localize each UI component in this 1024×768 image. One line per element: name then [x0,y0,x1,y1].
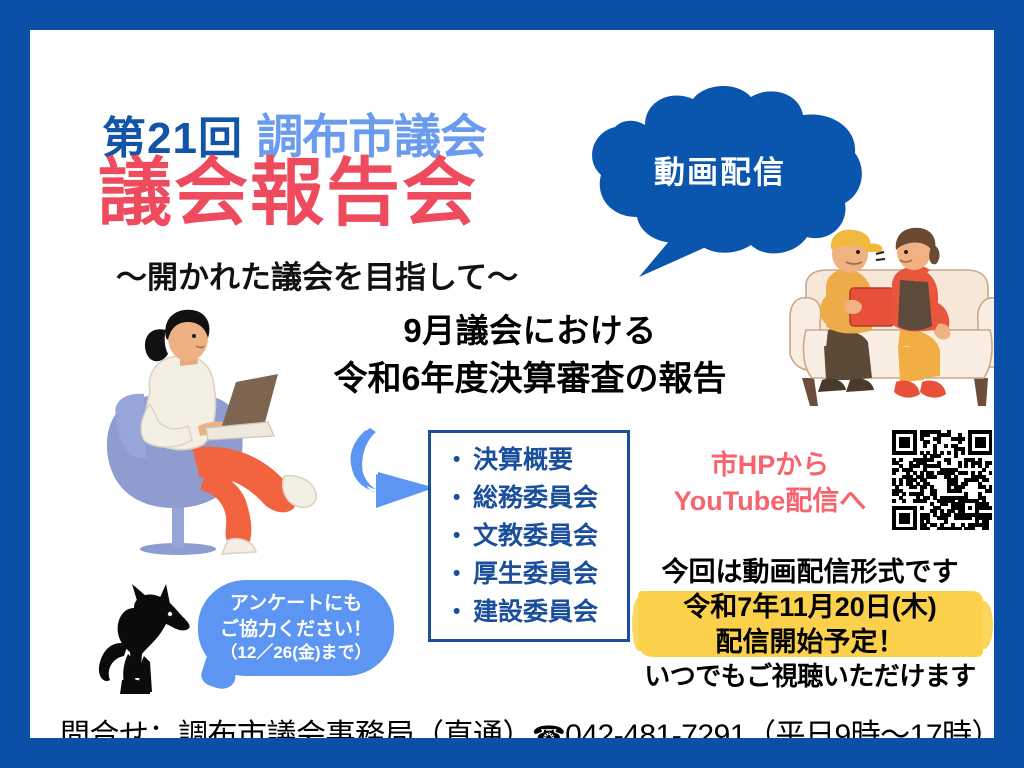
contact-prefix: 問合せ：調布市議会事務局（直通） [60,719,532,738]
elderly-couple-on-sofa-illustration [788,226,994,418]
contact-phone: 042-481-7291 [565,719,746,738]
report-heading: 9月議会における 令和6年度決算審査の報告 [300,308,760,403]
dog-silhouette-illustration [92,582,210,698]
notice-line-2: 令和7年11月20日(木) [630,590,990,625]
list-item: 文教委員会 [453,517,627,555]
heading-line-2: 令和6年度決算審査の報告 [300,355,760,403]
notice-line-4: いつでもご視聴いただけます [630,660,990,694]
poster-root: 第21回 調布市議会 議会報告会 〜開かれた議会を目指して〜 動画配信 9月議会… [0,0,1024,768]
curved-arrow-icon [342,426,438,512]
list-item: 決算概要 [453,441,627,479]
qr-code[interactable] [892,430,992,530]
list-item: 建設委員会 [453,593,627,631]
poster-canvas: 第21回 調布市議会 議会報告会 〜開かれた議会を目指して〜 動画配信 9月議会… [30,30,994,738]
agenda-list: 決算概要 総務委員会 文教委員会 厚生委員会 建設委員会 [431,433,627,631]
notice-line-1: 今回は動画配信形式です [630,555,990,590]
contact-hours: （平日9時〜17時） [746,719,994,738]
hp-note-line-1: 市HPから [650,448,890,484]
notice-line-3: 配信開始予定！ [630,625,990,660]
agenda-box: 決算概要 総務委員会 文教委員会 厚生委員会 建設委員会 [428,430,630,642]
cloud-bubble-label: 動画配信 [575,147,865,192]
survey-bubble-text: アンケートにも ご協力ください！ （12／26(金)まで） [198,591,394,665]
hp-note-line-2: YouTube配信へ [650,484,890,520]
qr-code-canvas [892,430,992,530]
list-item: 厚生委員会 [453,555,627,593]
title-main: 議会報告会 [98,156,478,230]
survey-line-3: （12／26(金)まで） [198,642,394,665]
list-item: 総務委員会 [453,479,627,517]
broadcast-notice: 今回は動画配信形式です 令和7年11月20日(木) 配信開始予定！ いつでもご視… [630,555,990,694]
woman-with-laptop-illustration [88,308,326,556]
phone-icon: ☎ [532,721,565,738]
title-subtitle: 〜開かれた議会を目指して〜 [116,252,518,297]
contact-footer: 問合せ：調布市議会事務局（直通）☎042-481-7291（平日9時〜17時） [60,710,964,738]
survey-line-2: ご協力ください！ [198,617,394,643]
survey-line-1: アンケートにも [198,591,394,617]
heading-line-1: 9月議会における [300,308,760,355]
streaming-source-note: 市HPから YouTube配信へ [650,448,890,520]
